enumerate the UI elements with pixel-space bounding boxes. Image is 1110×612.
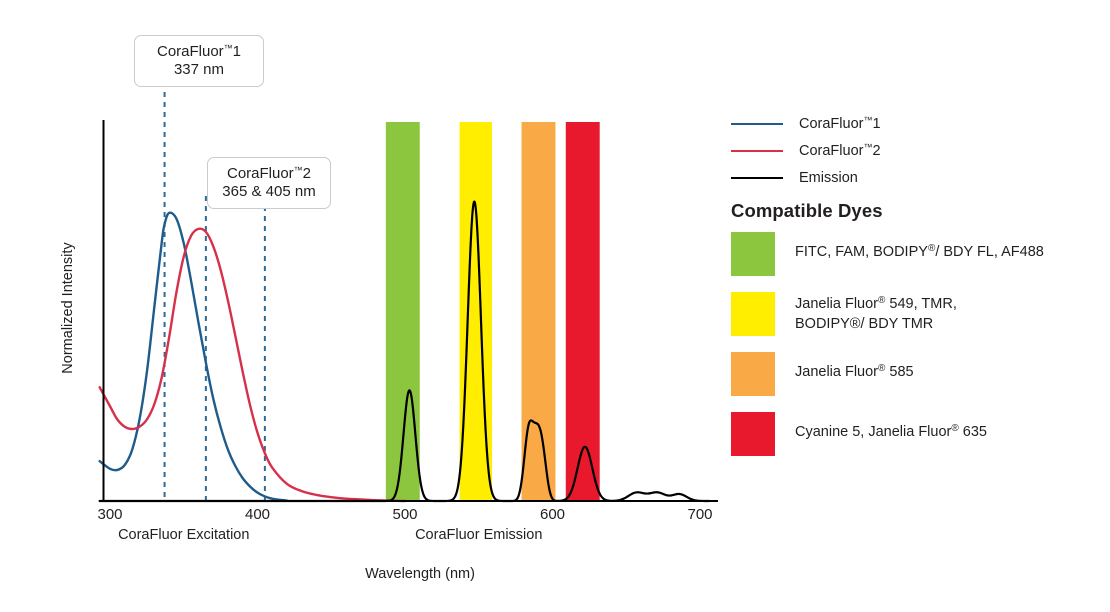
callout-cf1-line2: 337 nm (145, 61, 253, 79)
callout-cf2-line1: CoraFluor™2 (227, 165, 311, 182)
dye-label-line2: BODIPY®/ BDY TMR (795, 315, 957, 335)
red-band (566, 122, 600, 501)
dye-label-line1-suffix: 585 (885, 364, 913, 380)
dye-label-line1-text: Cyanine 5, Janelia Fluor (795, 424, 951, 440)
x-axis-title: Wavelength (nm) (300, 566, 540, 582)
x-tick-700: 700 (670, 506, 730, 523)
dye-row-1: Janelia Fluor® 549, TMR,BODIPY®/ BDY TMR (731, 292, 1110, 336)
dye-label-line1: Cyanine 5, Janelia Fluor® 635 (795, 424, 987, 440)
dye-label-line1: Janelia Fluor® 585 (795, 364, 914, 380)
y-axis-title: Normalized Intensity (60, 218, 76, 398)
dye-label: Janelia Fluor® 549, TMR,BODIPY®/ BDY TMR (795, 292, 957, 334)
callout-cf1-line1: CoraFluor™1 (157, 43, 241, 60)
callout-corafluor-1: CoraFluor™1 337 nm (134, 35, 264, 87)
dye-color-swatch (731, 412, 775, 456)
legend-label: Emission (799, 170, 858, 186)
callout-cf2-line2: 365 & 405 nm (218, 183, 320, 201)
dye-label-line1-suffix: 549, TMR, (885, 296, 956, 312)
legend-row-2: Emission (731, 164, 1110, 191)
legend-label: CoraFluor™1 (799, 115, 881, 132)
region-label-excitation: CoraFluor Excitation (118, 527, 249, 543)
dye-label: Cyanine 5, Janelia Fluor® 635 (795, 412, 987, 443)
dye-label-line1: FITC, FAM, BODIPY®/ BDY FL, AF488 (795, 244, 1044, 260)
dye-label-line1-suffix: / BDY FL, AF488 (935, 244, 1044, 260)
dye-color-swatch (731, 292, 775, 336)
dye-row-3: Cyanine 5, Janelia Fluor® 635 (731, 412, 1110, 456)
dye-bands-group (386, 122, 600, 501)
legend-row-0: CoraFluor™1 (731, 110, 1110, 137)
legend-line-swatch-icon (731, 123, 783, 125)
legend-label: CoraFluor™2 (799, 142, 881, 159)
x-tick-400: 400 (228, 506, 288, 523)
dye-label: FITC, FAM, BODIPY®/ BDY FL, AF488 (795, 232, 1044, 263)
legend-label-text: Emission (799, 170, 858, 186)
series-legend: CoraFluor™1CoraFluor™2Emission (731, 110, 1110, 191)
x-tick-600: 600 (523, 506, 583, 523)
curve-corafluor-2 (100, 229, 405, 501)
legend-row-1: CoraFluor™2 (731, 137, 1110, 164)
legend-line-swatch-icon (731, 177, 783, 179)
spectra-figure: Normalized Intensity Wavelength (nm) 300… (0, 0, 1110, 612)
dye-label-line1-text: FITC, FAM, BODIPY (795, 244, 928, 260)
legend-label-suffix: 1 (872, 116, 880, 132)
dye-row-0: FITC, FAM, BODIPY®/ BDY FL, AF488 (731, 232, 1110, 276)
dye-row-2: Janelia Fluor® 585 (731, 352, 1110, 396)
dye-label-line1-text: Janelia Fluor (795, 364, 878, 380)
legend-label-suffix: 2 (872, 143, 880, 159)
dye-label-line1-suffix: 635 (959, 424, 987, 440)
legend-label-text: CoraFluor (799, 143, 863, 159)
excitation-marker-lines (165, 92, 265, 501)
registered-mark-icon: ® (951, 423, 958, 434)
callout-corafluor-2: CoraFluor™2 365 & 405 nm (207, 157, 331, 209)
dye-label: Janelia Fluor® 585 (795, 352, 914, 383)
curve-corafluor-1 (100, 213, 287, 501)
compatible-dyes-heading: Compatible Dyes (731, 200, 883, 222)
plot-area: Normalized Intensity Wavelength (nm) 300… (0, 0, 730, 612)
x-tick-300: 300 (80, 506, 140, 523)
region-label-emission: CoraFluor Emission (415, 527, 542, 543)
dye-label-line1-text: Janelia Fluor (795, 296, 878, 312)
dye-label-line1: Janelia Fluor® 549, TMR, (795, 296, 957, 312)
x-tick-500: 500 (375, 506, 435, 523)
legend-line-swatch-icon (731, 150, 783, 152)
dye-color-swatch (731, 352, 775, 396)
legend-label-text: CoraFluor (799, 116, 863, 132)
dye-color-swatch (731, 232, 775, 276)
compatible-dyes-list: FITC, FAM, BODIPY®/ BDY FL, AF488Janelia… (731, 232, 1110, 472)
